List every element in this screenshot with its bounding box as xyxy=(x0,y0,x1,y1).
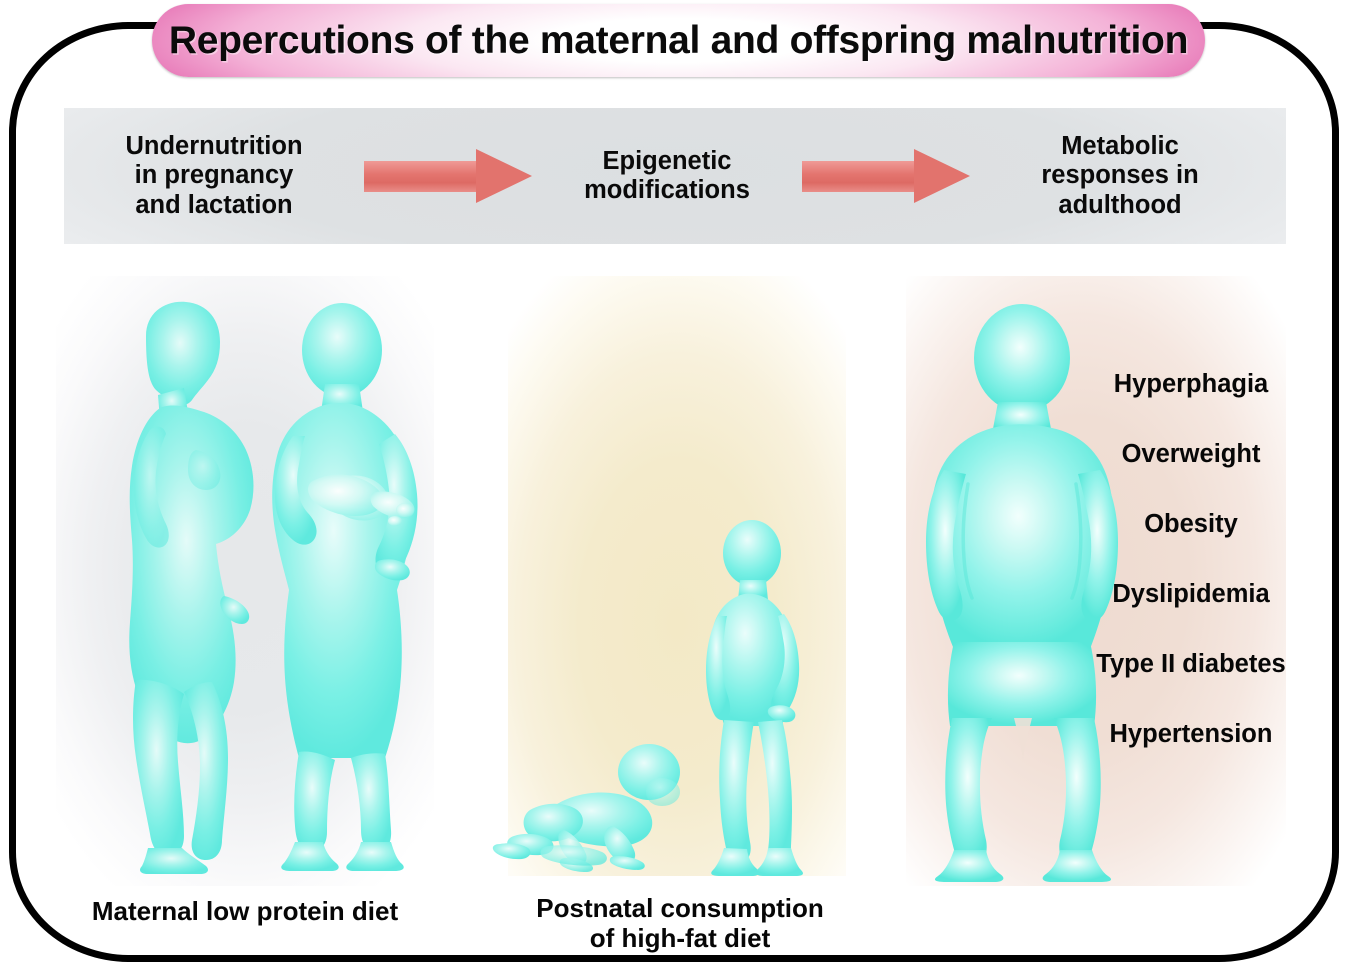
flow-step-metabolic-line1: Metabolic xyxy=(1041,132,1198,161)
arrow-right-icon-1 xyxy=(364,149,532,203)
condition-overweight: Overweight xyxy=(1062,440,1320,469)
caption-postnatal-diet-line2: of high-fat diet xyxy=(460,923,900,953)
arrow-right-icon-2 xyxy=(802,149,970,203)
flow-step-undernutrition-line2: in pregnancy xyxy=(125,161,302,190)
condition-type-ii-diabetes: Type II diabetes xyxy=(1062,650,1320,679)
caption-maternal-diet: Maternal low protein diet xyxy=(30,896,460,926)
figure-standing-child xyxy=(700,518,810,876)
page-title: Repercutions of the maternal and offspri… xyxy=(169,19,1188,63)
flow-step-epigenetic: Epigenetic modifications xyxy=(532,147,802,205)
flow-step-metabolic-line2: responses in xyxy=(1041,161,1198,190)
flow-band: Undernutrition in pregnancy and lactatio… xyxy=(64,108,1286,244)
flow-step-undernutrition-line3: and lactation xyxy=(125,191,302,220)
flow-step-undernutrition-line1: Undernutrition xyxy=(125,132,302,161)
flow-step-metabolic-text: Metabolic responses in adulthood xyxy=(1041,132,1198,219)
figure-crawling-baby xyxy=(492,744,702,874)
condition-dyslipidemia: Dyslipidemia xyxy=(1062,580,1320,609)
flow-step-undernutrition-text: Undernutrition in pregnancy and lactatio… xyxy=(125,132,302,219)
caption-maternal-diet-line1: Maternal low protein diet xyxy=(30,896,460,926)
flow-step-undernutrition: Undernutrition in pregnancy and lactatio… xyxy=(64,132,364,219)
figure-breastfeeding-woman xyxy=(255,302,430,872)
condition-hypertension: Hypertension xyxy=(1062,720,1320,749)
caption-postnatal-diet: Postnatal consumption of high-fat diet xyxy=(460,893,900,953)
arrow-head xyxy=(914,149,970,203)
diagram-title-banner: Repercutions of the maternal and offspri… xyxy=(152,4,1205,77)
condition-obesity: Obesity xyxy=(1062,510,1320,539)
flow-step-metabolic-line3: adulthood xyxy=(1041,191,1198,220)
condition-list: Hyperphagia Overweight Obesity Dyslipide… xyxy=(1062,370,1320,749)
flow-step-metabolic: Metabolic responses in adulthood xyxy=(970,132,1270,219)
flow-step-epigenetic-text: Epigenetic modifications xyxy=(584,147,750,205)
condition-hyperphagia: Hyperphagia xyxy=(1062,370,1320,399)
caption-postnatal-diet-line1: Postnatal consumption xyxy=(460,893,900,923)
arrow-head xyxy=(476,149,532,203)
arrow-shaft xyxy=(802,161,922,192)
flow-step-epigenetic-line1: Epigenetic xyxy=(584,147,750,176)
arrow-shaft xyxy=(364,161,484,192)
figure-pregnant-woman-profile xyxy=(88,300,278,875)
flow-step-epigenetic-line2: modifications xyxy=(584,176,750,205)
